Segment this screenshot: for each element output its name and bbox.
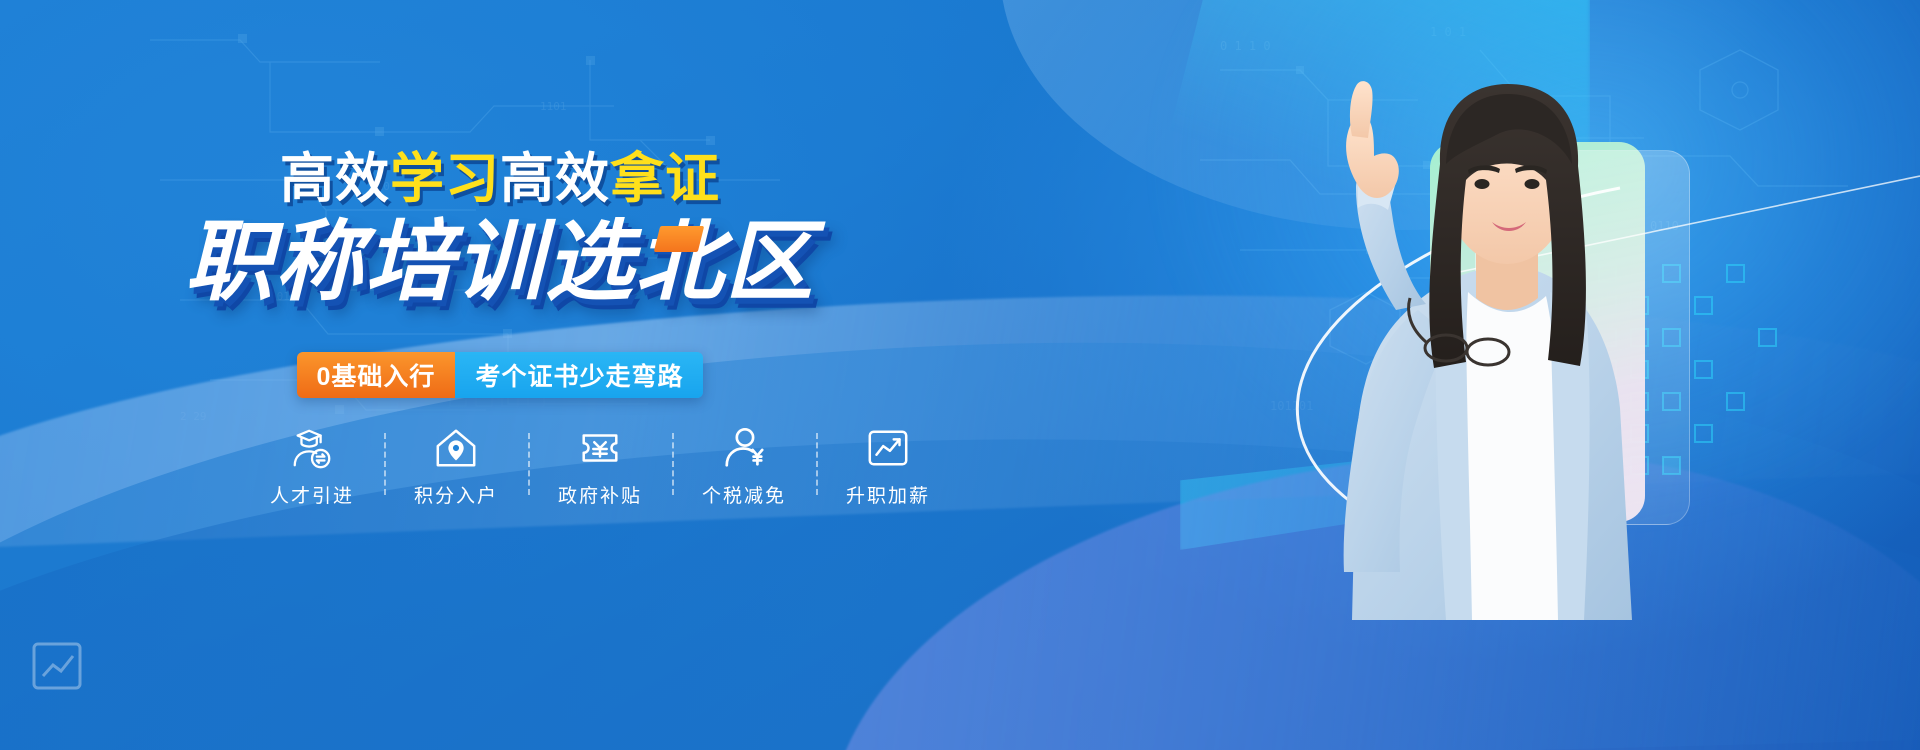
feature-label: 积分入户	[414, 481, 498, 508]
hero-image-stage	[1020, 0, 1920, 750]
feature-label: 升职加薪	[846, 481, 930, 508]
page-title: 职称培训选北区	[0, 216, 1000, 308]
promo-banner: 101010 2 291101	[0, 0, 1920, 750]
kicker-line: 高效学习高效拿证	[0, 152, 1000, 206]
graduate-exchange-icon	[289, 425, 335, 471]
badge-row: 0基础入行 考个证书少走弯路	[0, 352, 1000, 398]
headline-orange-accent	[654, 226, 704, 252]
feature-item-promotion[interactable]: 升职加薪	[816, 425, 960, 508]
feature-item-subsidy[interactable]: 政府补贴	[528, 425, 672, 508]
feature-label: 个税减免	[702, 481, 786, 508]
feature-row: 人才引进 积分入户	[240, 425, 960, 508]
feature-label: 政府补贴	[558, 481, 642, 508]
feature-label: 人才引进	[270, 481, 354, 508]
feature-item-talent[interactable]: 人才引进	[240, 425, 384, 508]
feature-item-tax[interactable]: 个税减免	[672, 425, 816, 508]
person-yuan-icon	[721, 425, 767, 471]
kicker-segment-1: 高效	[280, 152, 390, 206]
badge-secondary[interactable]: 考个证书少走弯路	[455, 352, 703, 398]
feature-item-residency[interactable]: 积分入户	[384, 425, 528, 508]
chart-growth-icon	[865, 425, 911, 471]
kicker-segment-4: 拿证	[610, 152, 720, 206]
ticket-yuan-icon	[577, 425, 623, 471]
person-photo	[1260, 60, 1730, 620]
headline-wrapper: 职称培训选北区	[0, 216, 1000, 326]
home-pin-icon	[433, 425, 479, 471]
badge-primary[interactable]: 0基础入行	[297, 352, 456, 398]
copy-block: 高效学习高效拿证 职称培训选北区 0基础入行 考个证书少走弯路	[0, 0, 1000, 750]
kicker-segment-3: 高效	[500, 152, 610, 206]
kicker-segment-2: 学习	[390, 152, 500, 206]
